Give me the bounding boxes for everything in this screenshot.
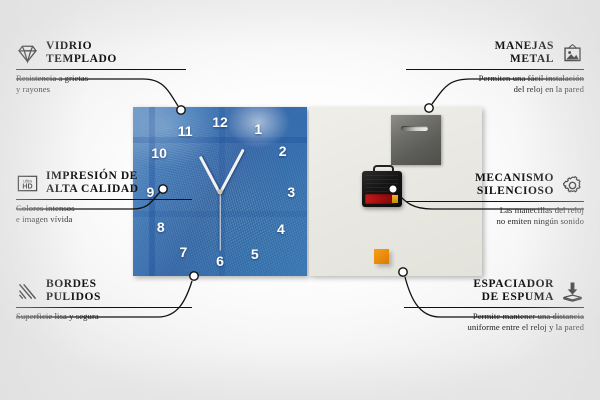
clock-numeral-3: 3 — [287, 185, 295, 199]
feature-title-line2: DE ESPUMA — [473, 291, 554, 304]
feature-title-line2: PULIDOS — [46, 291, 101, 304]
feature-polished-edges: BORDES PULIDOS Superficie lisa y segura — [16, 278, 192, 322]
feature-title-line2: ALTA CALIDAD — [46, 183, 139, 196]
feature-rule — [406, 201, 584, 202]
feature-header: MECANISMO SILENCIOSO — [406, 172, 584, 198]
clock-numeral-4: 4 — [277, 222, 285, 236]
infographic-canvas: 12 1 2 3 4 5 6 7 8 9 10 11 — [0, 0, 600, 400]
ultra-hd-icon: ultra HD — [16, 172, 39, 195]
arrow-down-pad-icon — [561, 280, 584, 303]
feature-description: Resistencia a grietas y rayones — [16, 73, 186, 95]
feature-title-line1: IMPRESIÓN DE — [46, 170, 139, 183]
feature-description: Las manecillas del reloj no emiten ningú… — [406, 205, 584, 227]
mechanism-battery — [365, 194, 395, 204]
feature-rule — [406, 69, 584, 70]
feature-rule — [16, 69, 186, 70]
feature-silent-mechanism: MECANISMO SILENCIOSO Las manecillas del … — [406, 172, 584, 227]
clock-numeral-12: 12 — [212, 115, 228, 129]
feature-title-line1: VIDRIO — [46, 40, 117, 53]
feature-description: Colores intensos e imagen vívida — [16, 203, 192, 225]
foam-spacer-pad — [374, 249, 389, 264]
mechanism-body — [362, 171, 402, 207]
feature-header: MANEJAS METAL — [406, 40, 584, 66]
feature-foam-spacer: ESPACIADOR DE ESPUMA Permite mantener un… — [404, 278, 584, 333]
svg-text:HD: HD — [22, 182, 32, 190]
feature-header: VIDRIO TEMPLADO — [16, 40, 186, 66]
clock-numeral-2: 2 — [279, 144, 287, 158]
clock-hand-cap — [218, 189, 223, 194]
clock-numeral-5: 5 — [251, 247, 259, 261]
clock-mechanism — [362, 165, 402, 207]
metal-hanger-plate — [391, 115, 441, 165]
feature-title-line1: ESPACIADOR — [473, 278, 554, 291]
feature-title-line1: MECANISMO — [475, 172, 554, 185]
feature-header: ultra HD IMPRESIÓN DE ALTA CALIDAD — [16, 170, 192, 196]
feature-title-line2: SILENCIOSO — [475, 185, 554, 198]
feature-description: Permite mantener una distancia uniforme … — [404, 311, 584, 333]
diagonal-lines-icon — [16, 280, 39, 303]
picture-frame-icon — [561, 42, 584, 65]
feature-rule — [16, 199, 192, 200]
diamond-icon — [16, 42, 39, 65]
feature-hd-print: ultra HD IMPRESIÓN DE ALTA CALIDAD Color… — [16, 170, 192, 225]
feature-rule — [16, 307, 192, 308]
feature-title-line1: BORDES — [46, 278, 101, 291]
feature-metal-hooks: MANEJAS METAL Permiten una fácil instala… — [406, 40, 584, 95]
hanger-keyhole-slot — [401, 126, 428, 131]
clock-numeral-7: 7 — [180, 245, 188, 259]
feature-description: Superficie lisa y segura — [16, 311, 192, 322]
feature-title-line1: MANEJAS — [495, 40, 554, 53]
clock-numeral-10: 10 — [151, 146, 167, 160]
gear-icon — [561, 174, 584, 197]
feature-title-line2: METAL — [495, 53, 554, 66]
feature-title-line2: TEMPLADO — [46, 53, 117, 66]
feature-description: Permiten una fácil instalación del reloj… — [406, 73, 584, 95]
clock-numeral-1: 1 — [254, 122, 262, 136]
feature-header: ESPACIADOR DE ESPUMA — [404, 278, 584, 304]
clock-numeral-6: 6 — [216, 254, 224, 268]
feature-rule — [404, 307, 584, 308]
feature-header: BORDES PULIDOS — [16, 278, 192, 304]
clock-numeral-11: 11 — [178, 124, 193, 138]
clock-second-hand — [219, 192, 220, 250]
feature-tempered-glass: VIDRIO TEMPLADO Resistencia a grietas y … — [16, 40, 186, 95]
